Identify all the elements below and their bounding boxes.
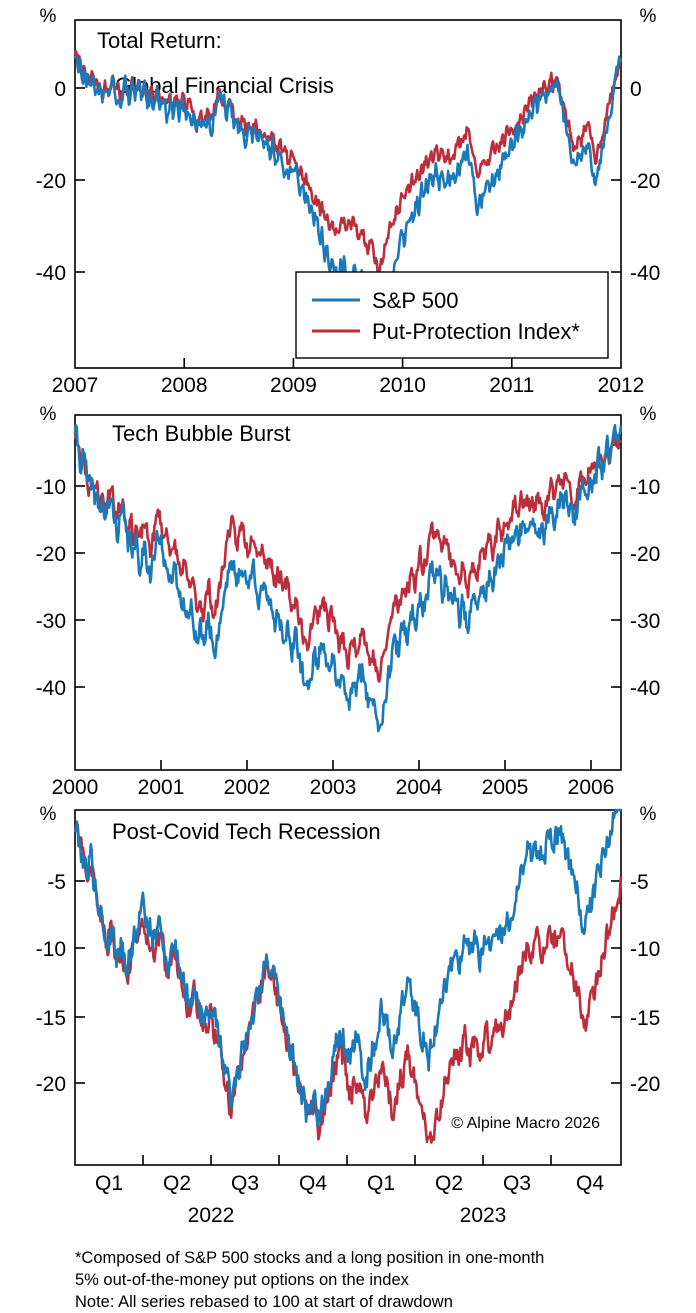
figure-title: Total Return: [97, 28, 222, 53]
legend-box [296, 272, 608, 358]
panel-3-qlabel-2: Q2 [163, 1172, 191, 1195]
panel-1-ytick-0: 0 [54, 78, 66, 101]
panel-1-left-unit-label: % [40, 6, 57, 27]
panel-2-left-unit-label: % [40, 404, 57, 425]
panel-3-left-unit-label: % [40, 804, 57, 825]
panel-3-series-put-protection-index [75, 824, 621, 1142]
copyright-credit: © Alpine Macro 2026 [451, 1115, 600, 1132]
panel-1-xtick-2011: 2011 [489, 374, 534, 397]
panel-3-frame [75, 810, 621, 1165]
panel-3-year-2022: 2022 [188, 1204, 235, 1227]
panel-2-right-unit-label: % [640, 404, 657, 425]
panel-3-qlabel-5: Q1 [367, 1172, 395, 1195]
panel-global-financial-crisis: % % 0 -20 -40 0 -20 -40 [0, 0, 696, 400]
panel-3-ytick-m5: -5 [47, 871, 66, 894]
panel-1-xtick-2008: 2008 [161, 374, 208, 397]
panel-2-ytick-m30: -30 [36, 610, 66, 633]
panel-2-ytick-right-m20: -20 [630, 543, 660, 566]
panel-3-qlabel-7: Q3 [503, 1172, 531, 1195]
legend-label-put-protection-index: Put-Protection Index* [372, 319, 580, 344]
panel-2-frame [75, 415, 621, 770]
panel-1-right-yaxis: 0 -20 -40 [611, 78, 660, 285]
panel-2-ytick-right-m30: -30 [630, 610, 660, 633]
panel-2-ytick-right-m10: -10 [630, 476, 660, 499]
panel-2-ytick-m10: -10 [36, 476, 66, 499]
panel-3-qlabel-8: Q4 [576, 1172, 604, 1195]
panel-3-xaxis: Q1 Q2 Q3 Q4 Q1 Q2 Q3 Q4 2022 2023 [95, 1155, 604, 1227]
panel-3-title: Post-Covid Tech Recession [112, 819, 381, 844]
footnote-line-3: Note: All series rebased to 100 at start… [75, 1292, 453, 1313]
panel-2-left-yaxis: -10 -20 -30 -40 [36, 476, 85, 700]
panel-1-xtick-2009: 2009 [270, 374, 317, 397]
panel-2-ytick-m40: -40 [36, 677, 66, 700]
panel-1-ytick-right-m20: -20 [630, 170, 660, 193]
panel-2-ytick-m20: -20 [36, 543, 66, 566]
panel-1-ytick-right-0: 0 [630, 78, 642, 101]
panel-3-left-yaxis: -5 -10 -15 -20 [36, 871, 85, 1096]
panel-3-ytick-right-m20: -20 [630, 1073, 660, 1096]
panel-1-ytick-m20: -20 [36, 170, 66, 193]
panel-tech-bubble-burst: % % -10 -20 -30 -40 -10 -20 -30 [0, 398, 696, 798]
panel-2-ytick-right-m40: -40 [630, 677, 660, 700]
panel-2-title: Tech Bubble Burst [112, 421, 291, 446]
panel-post-covid-tech-recession: % % -5 -10 -15 -20 -5 -10 -15 [0, 795, 696, 1245]
panel-2-series-sp500 [75, 425, 621, 731]
panel-2-right-yaxis: -10 -20 -30 -40 [611, 476, 660, 700]
panel-2-plot: % % -10 -20 -30 -40 -10 -20 -30 [0, 398, 696, 798]
panel-3-ytick-m10: -10 [36, 938, 66, 961]
panel-3-qlabel-4: Q4 [299, 1172, 327, 1195]
panel-1-ytick-m40: -40 [36, 262, 66, 285]
panel-3-qlabel-1: Q1 [95, 1172, 123, 1195]
panel-3-ytick-m20: -20 [36, 1073, 66, 1096]
panel-1-xtick-2010: 2010 [379, 374, 426, 397]
panel-1-xaxis: 2007 2008 2009 2010 2011 2012 [52, 358, 645, 397]
panel-1-left-yaxis: 0 -20 -40 [36, 78, 85, 285]
panel-1-xtick-2007: 2007 [52, 374, 99, 397]
panel-2-series-put-protection-index [75, 433, 621, 682]
panel-3-right-unit-label: % [640, 804, 657, 825]
panel-1-right-unit-label: % [640, 6, 657, 27]
panel-1-plot: % % 0 -20 -40 0 -20 -40 [0, 0, 696, 400]
panel-3-ytick-right-m5: -5 [630, 871, 649, 894]
legend-label-sp500: S&P 500 [372, 288, 458, 313]
footnote-line-2: 5% out-of-the-money put options on the i… [75, 1270, 409, 1291]
panel-2-xaxis: 2000 2001 2002 2003 2004 2005 2006 [52, 760, 615, 798]
panel-3-qlabel-6: Q2 [435, 1172, 463, 1195]
footnote-line-1: *Composed of S&P 500 stocks and a long p… [75, 1248, 544, 1269]
panel-3-year-2023: 2023 [460, 1204, 507, 1227]
panel-3-ytick-right-m15: -15 [630, 1007, 660, 1030]
panel-3-ytick-right-m10: -10 [630, 938, 660, 961]
panel-3-ytick-m15: -15 [36, 1007, 66, 1030]
panel-3-plot: % % -5 -10 -15 -20 -5 -10 -15 [0, 795, 696, 1245]
panel-1-ytick-right-m40: -40 [630, 262, 660, 285]
chart-figure: % % 0 -20 -40 0 -20 -40 [0, 0, 696, 1308]
panel-3-qlabel-3: Q3 [231, 1172, 259, 1195]
panel-1-xtick-2012: 2012 [598, 374, 645, 397]
legend: S&P 500 Put-Protection Index* [296, 272, 608, 358]
